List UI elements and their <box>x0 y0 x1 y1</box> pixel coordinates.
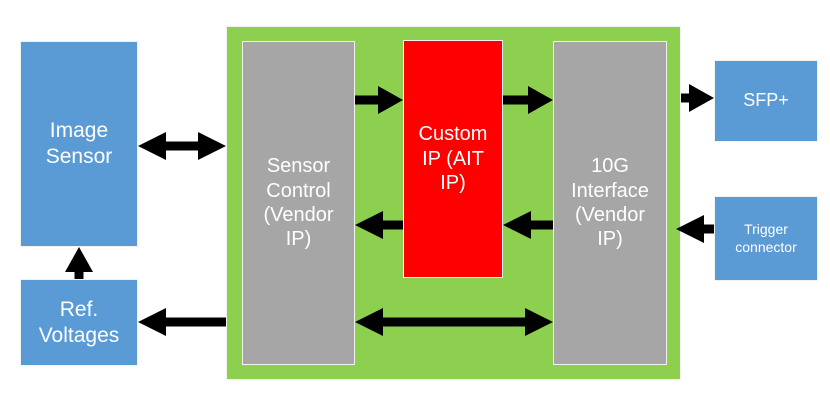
block-custom-ip[interactable]: Custom IP (AIT IP) <box>403 40 503 278</box>
block-trigger-connector[interactable]: Trigger connector <box>714 196 818 281</box>
arrow-10g-interface-to-sfp-plus <box>681 84 714 112</box>
arrow-sensor-control-to-ref-voltages <box>138 308 226 336</box>
block-sensor-control[interactable]: Sensor Control (Vendor IP) <box>242 41 355 365</box>
block-image-sensor[interactable]: Image Sensor <box>20 41 138 247</box>
block-ref-voltages[interactable]: Ref. Voltages <box>20 279 138 366</box>
arrow-image-sensor-to-sensor-control <box>138 132 226 160</box>
block-10g-interface[interactable]: 10G Interface (Vendor IP) <box>553 41 667 365</box>
block-sfp-plus[interactable]: SFP+ <box>714 60 818 142</box>
block-diagram-canvas: Image Sensor Ref. Voltages Sensor Contro… <box>0 0 830 410</box>
arrow-trigger-connector-to-10g-interface <box>676 215 714 243</box>
arrow-ref-voltages-to-image-sensor <box>65 247 93 279</box>
